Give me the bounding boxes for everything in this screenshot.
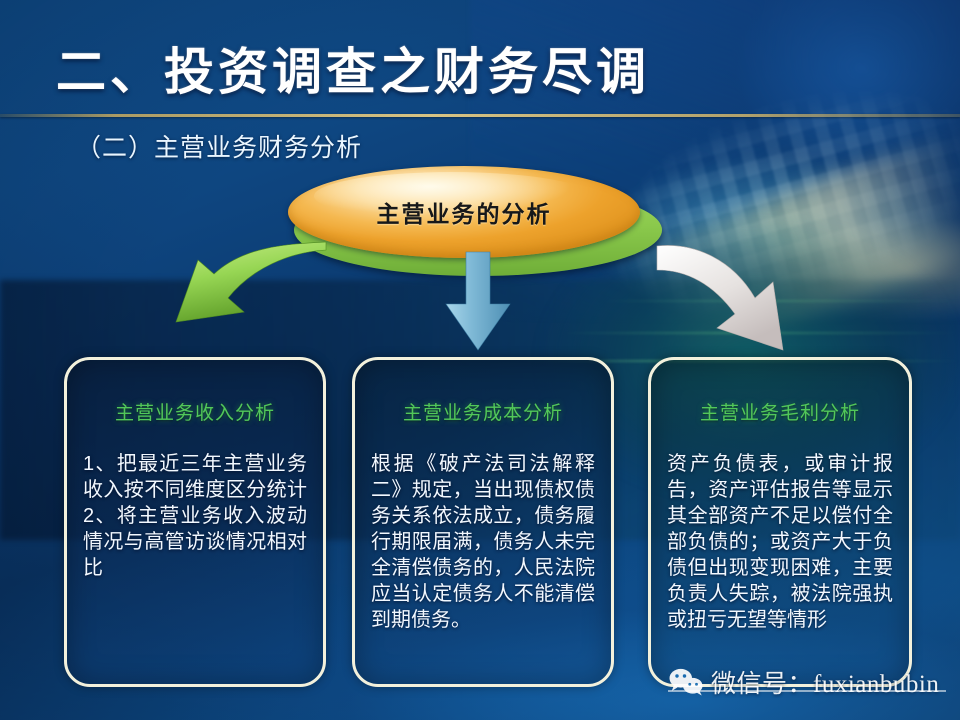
wechat-icon	[668, 667, 704, 697]
page-subtitle: （二）主营业务财务分析	[76, 128, 362, 164]
info-box-cost[interactable]: 主营业务成本分析 根据《破产法司法解释二》规定，当出现债权债务关系依法成立，债务…	[352, 357, 614, 687]
watermark-strikethrough	[668, 690, 946, 692]
info-box-body: 根据《破产法司法解释二》规定，当出现债权债务关系依法成立，债务履行期限届满，债务…	[371, 451, 595, 633]
watermark-text: 微信号：fuxianbubin	[711, 664, 939, 700]
title-divider	[0, 114, 960, 117]
watermark: 微信号：fuxianbubin	[668, 664, 939, 700]
slide-canvas: 二、投资调查之财务尽调 （二）主营业务财务分析 主营业务的分析	[0, 0, 960, 720]
arrow-left-icon	[140, 246, 330, 366]
info-box-body: 1、把最近三年主营业务收入按不同维度区分统计 2、将主营业务收入波动情况与高管访…	[83, 451, 307, 581]
arrow-right-icon	[655, 240, 845, 370]
info-box-title: 主营业务毛利分析	[667, 398, 893, 425]
info-box-gross-profit[interactable]: 主营业务毛利分析 资产负债表，或审计报告，资产评估报告等显示其全部资产不足以偿付…	[648, 357, 912, 687]
info-box-revenue[interactable]: 主营业务收入分析 1、把最近三年主营业务收入按不同维度区分统计 2、将主营业务收…	[64, 357, 326, 687]
center-node-label: 主营业务的分析	[288, 166, 640, 258]
arrow-mid-icon	[430, 252, 526, 356]
page-title: 二、投资调查之财务尽调	[56, 32, 650, 104]
info-box-title: 主营业务成本分析	[371, 398, 595, 425]
info-box-title: 主营业务收入分析	[83, 398, 307, 425]
info-box-body: 资产负债表，或审计报告，资产评估报告等显示其全部资产不足以偿付全部负债的；或资产…	[667, 451, 893, 633]
